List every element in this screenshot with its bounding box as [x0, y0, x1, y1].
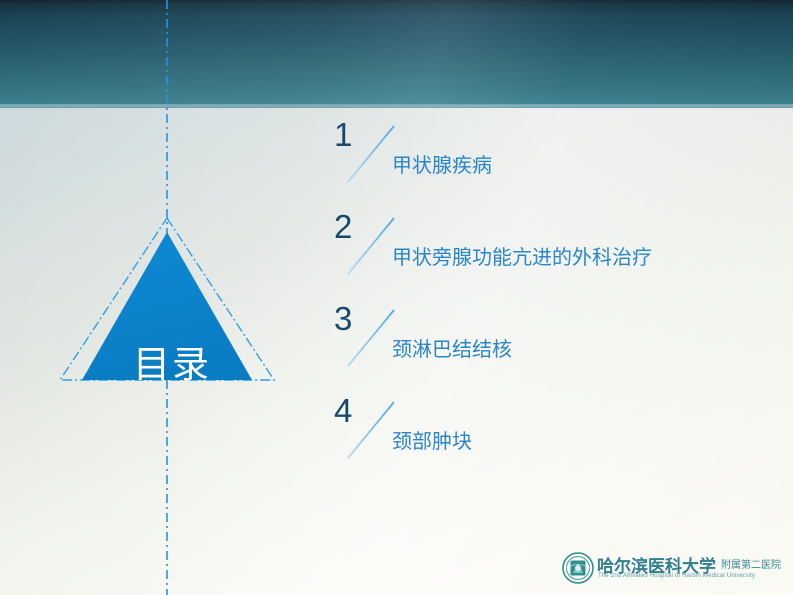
hospital-name-en: The 2nd Affiliated Hospital of Harbin Me… — [598, 573, 755, 579]
agenda-list: 1 甲状腺疾病 2 — [322, 118, 772, 488]
agenda-item[interactable]: 4 颈部肿块 — [322, 394, 772, 486]
agenda-item-label: 甲状腺疾病 — [392, 154, 492, 178]
agenda-item-label: 颈部肿块 — [392, 430, 472, 454]
agenda-item[interactable]: 1 甲状腺疾病 — [322, 118, 772, 210]
agenda-item-number: 1 — [334, 118, 352, 151]
header-sheen — [0, 0, 793, 108]
header-bottom-edge — [0, 104, 793, 108]
agenda-item-number: 3 — [334, 302, 352, 335]
agenda-item[interactable]: 3 颈淋巴结结核 — [322, 302, 772, 394]
agenda-item[interactable]: 2 甲状旁腺功能亢进的外科治疗 — [322, 210, 772, 302]
slide-canvas: 目录 1 甲状腺疾病 2 — [0, 0, 793, 595]
hospital-emblem-icon — [562, 552, 594, 584]
header-band — [0, 0, 793, 108]
hospital-logo: 哈尔滨医科大学 附属第二医院 The 2nd Affiliated Hospit… — [562, 548, 784, 588]
agenda-item-number: 2 — [334, 210, 352, 243]
hospital-logo-text: 哈尔滨医科大学 附属第二医院 The 2nd Affiliated Hospit… — [597, 551, 784, 585]
hospital-name-cn-sub: 附属第二医院 — [721, 556, 781, 571]
agenda-badge-label: 目录 — [133, 346, 211, 383]
agenda-item-label: 颈淋巴结结核 — [392, 338, 512, 362]
agenda-item-label: 甲状旁腺功能亢进的外科治疗 — [392, 246, 652, 270]
agenda-item-number: 4 — [334, 394, 352, 427]
agenda-badge-label-wrap: 目录 — [52, 196, 292, 396]
